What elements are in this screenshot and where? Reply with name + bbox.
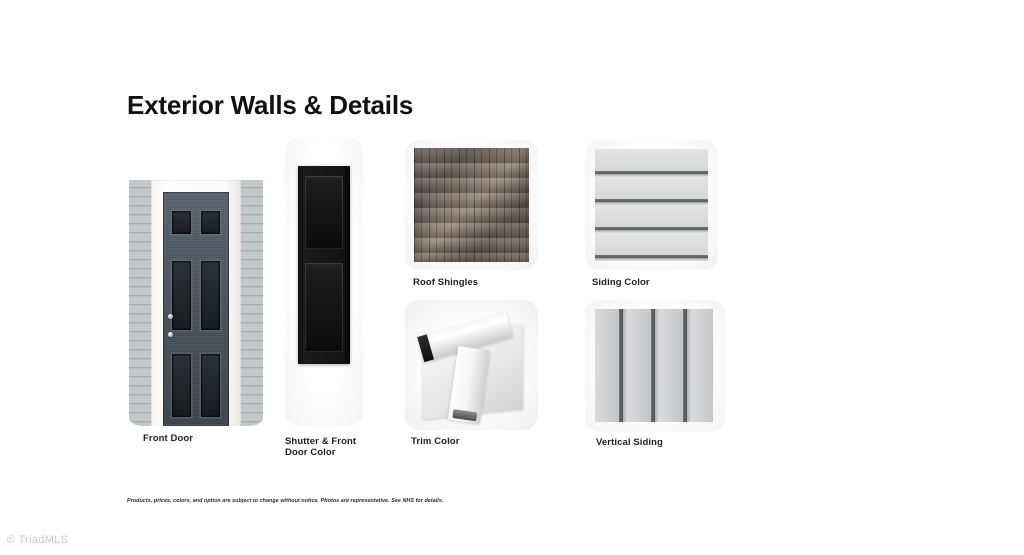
caption-roof-shingles: Roof Shingles: [413, 277, 478, 288]
shutter-photo: [285, 138, 363, 426]
door-panel: [201, 261, 221, 330]
page-title: Exterior Walls & Details: [127, 90, 413, 121]
vertical-siding-texture: [595, 309, 713, 422]
door-panel: [172, 211, 192, 235]
swatch-roof-shingles[interactable]: [405, 140, 538, 270]
front-door-photo: [127, 138, 265, 426]
shutter-body: [298, 166, 350, 364]
swatch-shutter-front-door-color[interactable]: [285, 138, 363, 426]
door-panel: [172, 261, 192, 330]
vertical-siding-photo: [585, 300, 725, 432]
caption-siding-color: Siding Color: [592, 277, 650, 288]
door-slab: [163, 192, 229, 426]
trim-color-photo: [405, 300, 538, 430]
door-panel: [201, 354, 221, 418]
disclaimer-text: Products, prices, colors, and option are…: [127, 498, 443, 504]
caption-vertical-siding: Vertical Siding: [596, 437, 663, 448]
caption-shutter-front-door-color: Shutter & Front Door Color: [285, 436, 375, 458]
selection-sheet: Exterior Walls & Details: [0, 0, 1024, 555]
door-panel: [201, 211, 221, 235]
swatch-vertical-siding[interactable]: [585, 300, 725, 432]
shingle-texture: [414, 148, 529, 262]
front-door-scene: [129, 180, 263, 426]
swatch-siding-color[interactable]: [585, 140, 718, 270]
shutter-panel: [305, 176, 342, 249]
door-panel: [172, 354, 192, 418]
door-knob-icon: [168, 314, 173, 319]
siding-right: [239, 180, 263, 426]
caption-trim-color: Trim Color: [411, 436, 460, 447]
roof-shingles-photo: [405, 140, 538, 270]
door-deadbolt-icon: [168, 332, 173, 337]
watermark-triadmls: © TriadMLS: [7, 534, 68, 546]
siding-left: [129, 180, 153, 426]
swatch-front-door[interactable]: [127, 138, 265, 426]
swatch-trim-color[interactable]: [405, 300, 538, 430]
door-casing: [151, 180, 241, 426]
siding-color-photo: [585, 140, 718, 270]
lap-siding-texture: [595, 149, 708, 261]
caption-front-door: Front Door: [143, 433, 193, 444]
shutter-panel: [305, 263, 342, 352]
